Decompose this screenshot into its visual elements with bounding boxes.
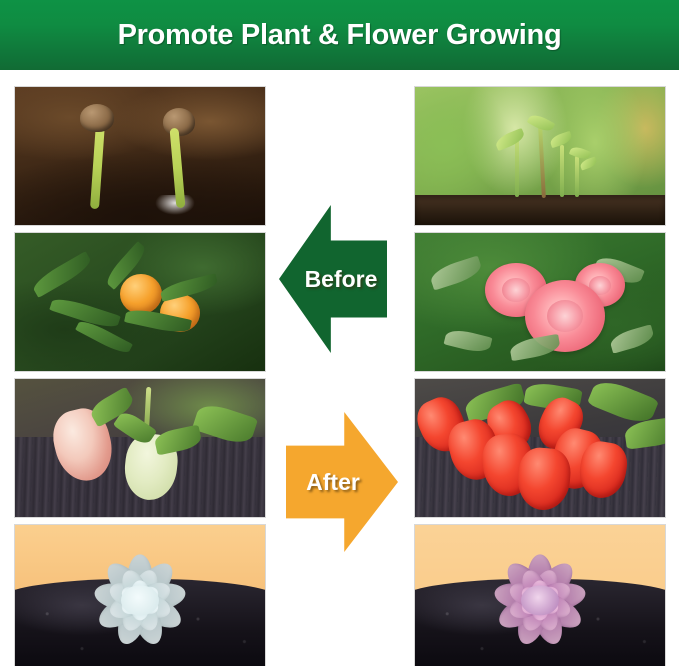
photo-before-row-3 — [14, 378, 266, 518]
before-arrow: Before — [279, 205, 387, 353]
seedling-stem — [575, 156, 579, 197]
seed-sprouts-in-soil-image — [15, 87, 265, 225]
photo-before-row-1 — [14, 86, 266, 226]
pale-succulent-image — [15, 525, 265, 666]
plant-with-orange-buds-image — [15, 233, 265, 371]
seedling-stem — [560, 145, 564, 197]
root-fuzz — [155, 195, 195, 215]
ripe-strawberries-image — [415, 379, 665, 517]
page-title: Promote Plant & Flower Growing — [118, 19, 562, 52]
after-arrow: After — [286, 412, 398, 552]
seedling-leaf — [494, 127, 527, 150]
leaf-blade — [30, 251, 94, 298]
photo-after-row-2 — [414, 232, 666, 372]
rose-leaf — [428, 256, 484, 291]
infographic-page: Promote Plant & Flower Growing Before — [0, 0, 679, 666]
rose-leaf — [444, 327, 493, 356]
seedling-stem — [538, 126, 546, 198]
seed-head-right — [163, 108, 195, 136]
succulent-rosette — [465, 545, 615, 655]
photo-before-row-2 — [14, 232, 266, 372]
succulent-rosette — [65, 545, 215, 655]
photo-after-row-4 — [414, 524, 666, 666]
purple-succulent-image — [415, 525, 665, 666]
rose-leaf — [509, 334, 562, 361]
header-banner: Promote Plant & Flower Growing — [0, 0, 679, 70]
before-arrow-label: Before — [305, 266, 378, 293]
pink-roses-image — [415, 233, 665, 371]
succulent-core — [121, 585, 159, 615]
rose-leaf — [608, 324, 655, 353]
photo-before-row-4 — [14, 524, 266, 666]
photo-after-row-1 — [414, 86, 666, 226]
green-seedlings-image — [415, 87, 665, 225]
after-arrow-label: After — [306, 469, 360, 496]
orange-bud — [120, 274, 162, 314]
seed-head-left — [80, 104, 114, 132]
photo-after-row-3 — [414, 378, 666, 518]
unripe-strawberries-image — [15, 379, 265, 517]
soil-ground — [415, 195, 665, 225]
succulent-core — [521, 585, 559, 615]
